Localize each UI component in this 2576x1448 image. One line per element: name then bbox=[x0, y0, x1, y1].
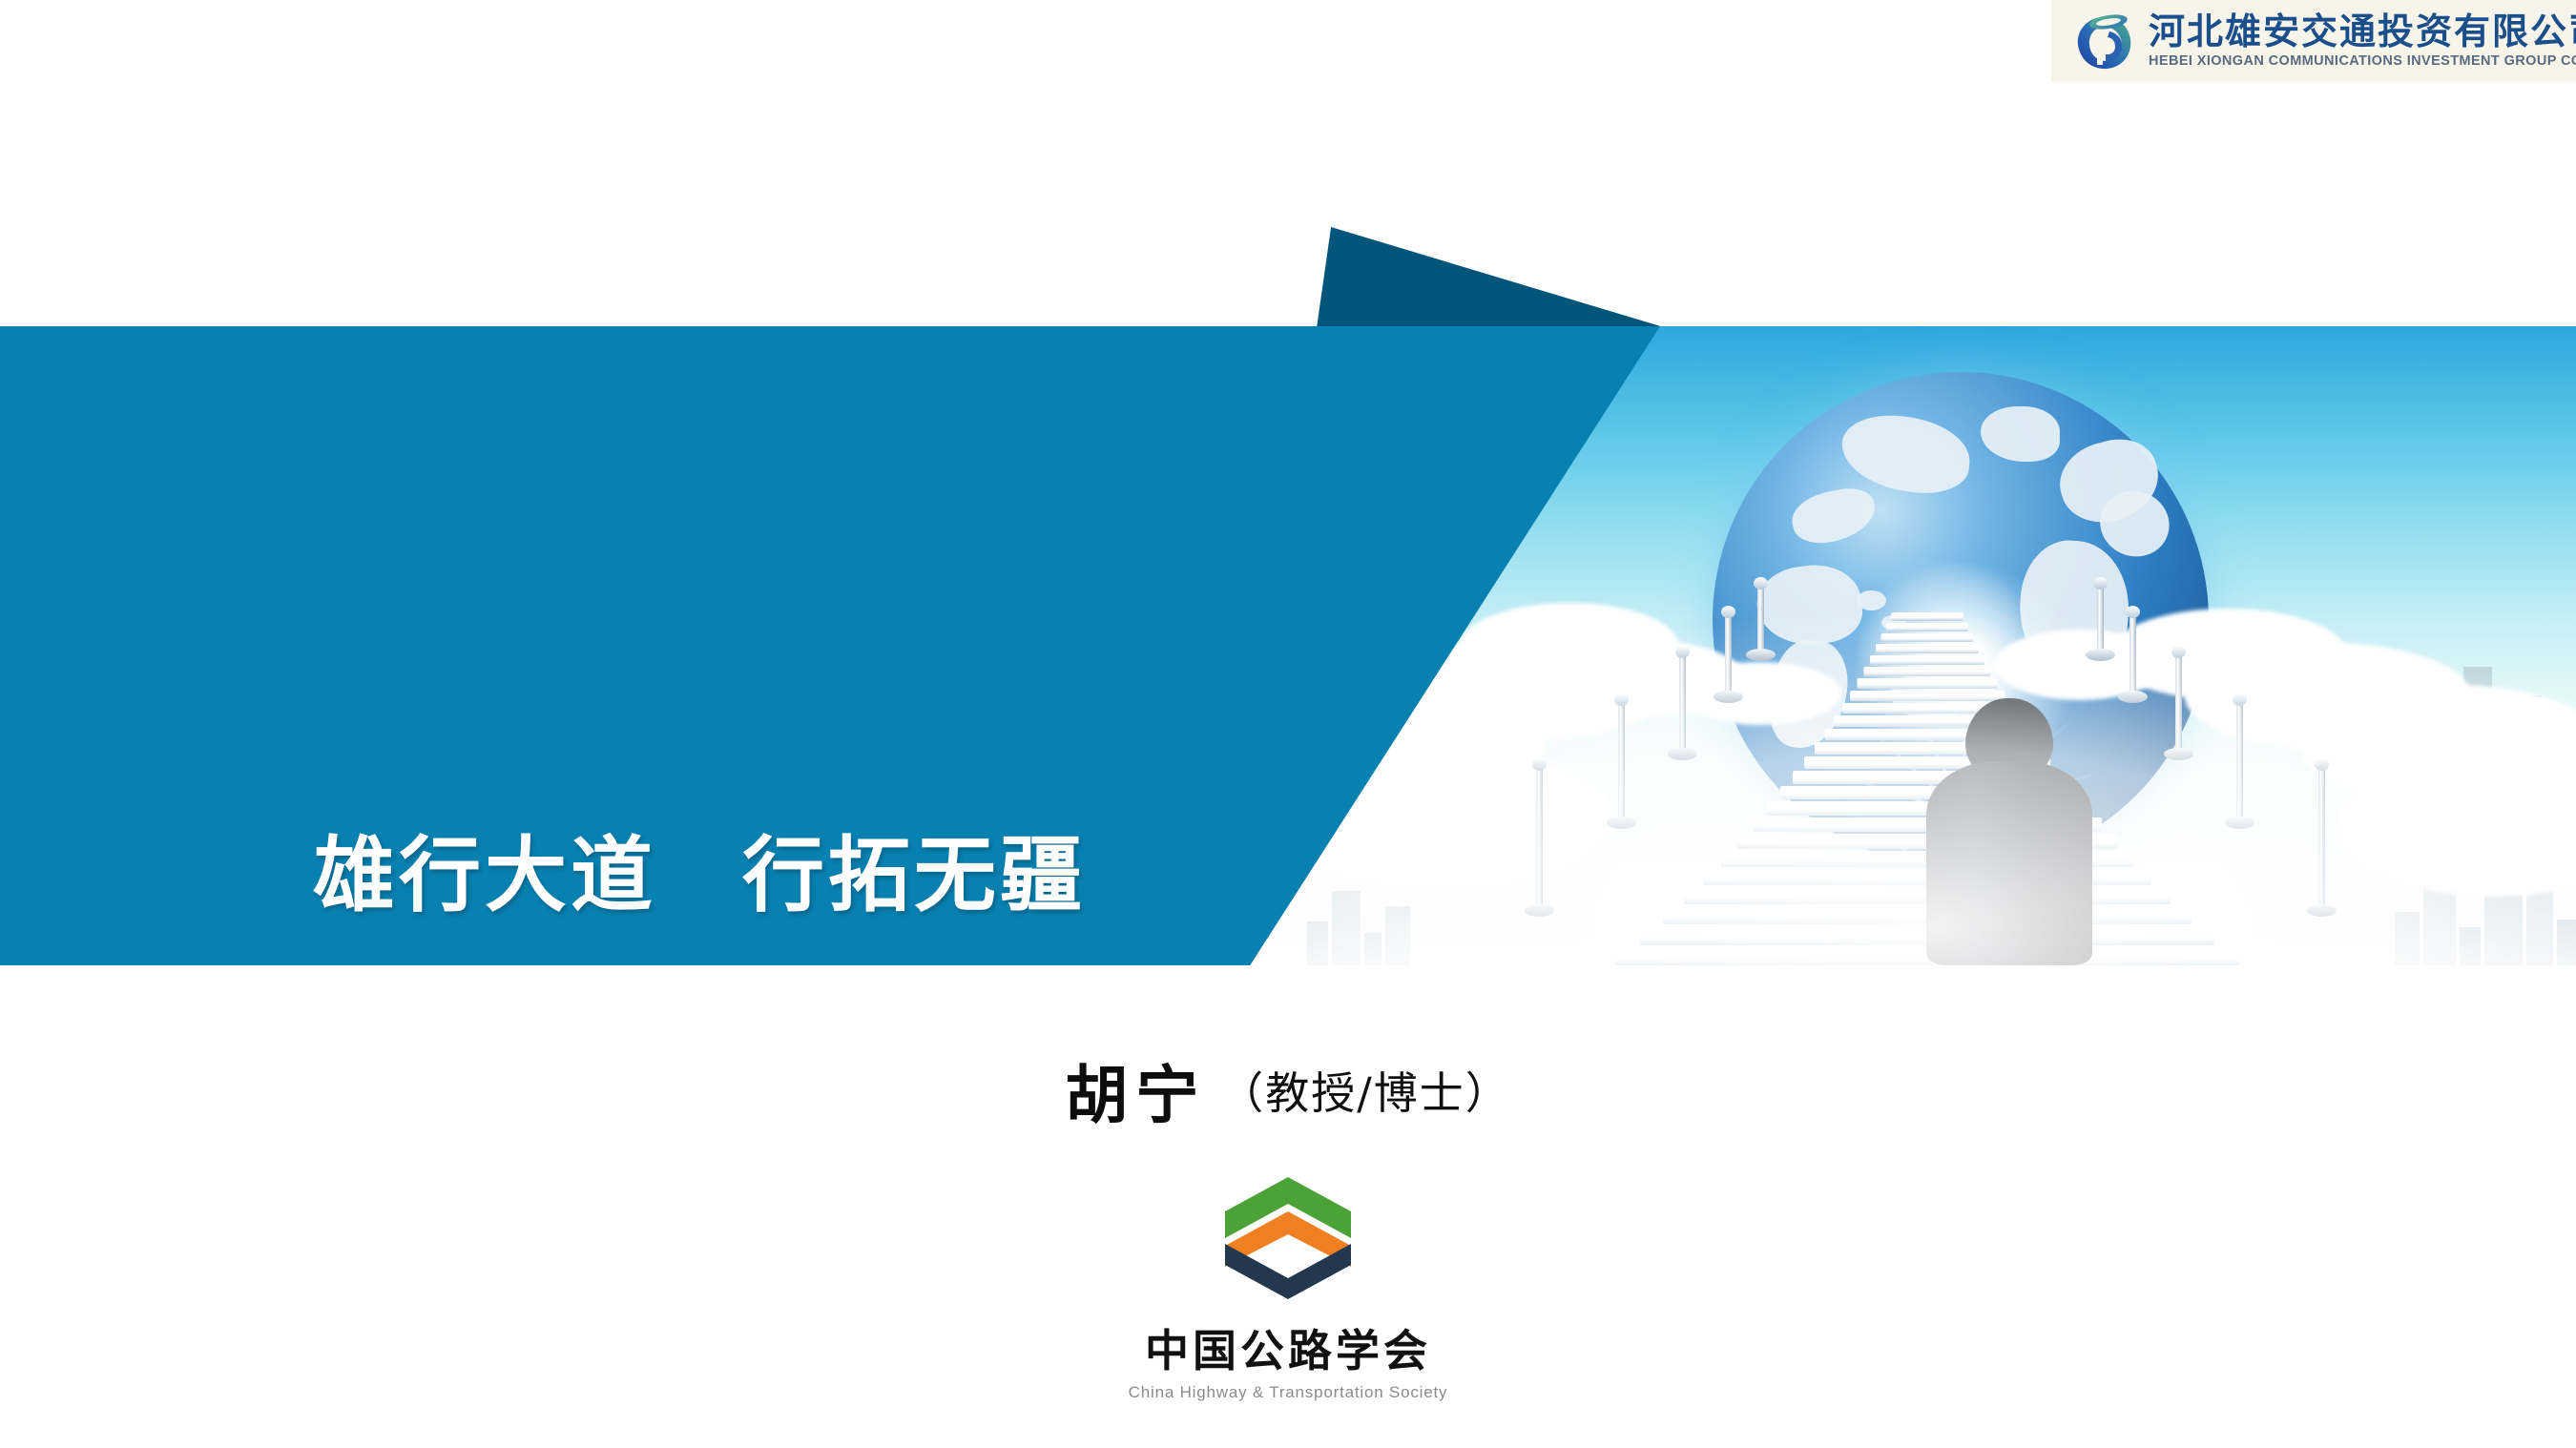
society-name-cn: 中国公路学会 bbox=[1145, 1316, 1431, 1379]
presenter-credentials: （教授/博士） bbox=[1219, 1067, 1511, 1119]
corporate-name-en: HEBEI XIONGAN COMMUNICATIONS INVESTMENT … bbox=[2149, 54, 2576, 69]
corporate-logo-lockup: 河北雄安交通投资有限公司 HEBEI XIONGAN COMMUNICATION… bbox=[2051, 0, 2576, 82]
china-highway-society-hexagon-mark-icon bbox=[1202, 1166, 1374, 1309]
corporate-logo-text: 河北雄安交通投资有限公司 HEBEI XIONGAN COMMUNICATION… bbox=[2149, 13, 2576, 69]
decorative-teal-wedge bbox=[1317, 227, 1660, 328]
society-logo-block: 中国公路学会 China Highway & Transportation So… bbox=[0, 1166, 2576, 1402]
xiongan-circular-emblem-icon bbox=[2068, 9, 2139, 73]
society-name-en: China Highway & Transportation Society bbox=[1129, 1383, 1448, 1402]
page-title: 雄行大道 行拓无疆 bbox=[313, 830, 1086, 921]
presenter-name: 胡宁 bbox=[1065, 1058, 1206, 1132]
corporate-name-cn: 河北雄安交通投资有限公司 bbox=[2149, 13, 2576, 50]
presenter-line: 胡宁（教授/博士） bbox=[0, 1045, 2576, 1136]
hero-band: 雄行大道 行拓无疆 ——雄安交投企业文化品牌解读与落地实施 bbox=[0, 326, 2576, 965]
title-slide: 河北雄安交通投资有限公司 HEBEI XIONGAN COMMUNICATION… bbox=[0, 0, 2576, 1448]
